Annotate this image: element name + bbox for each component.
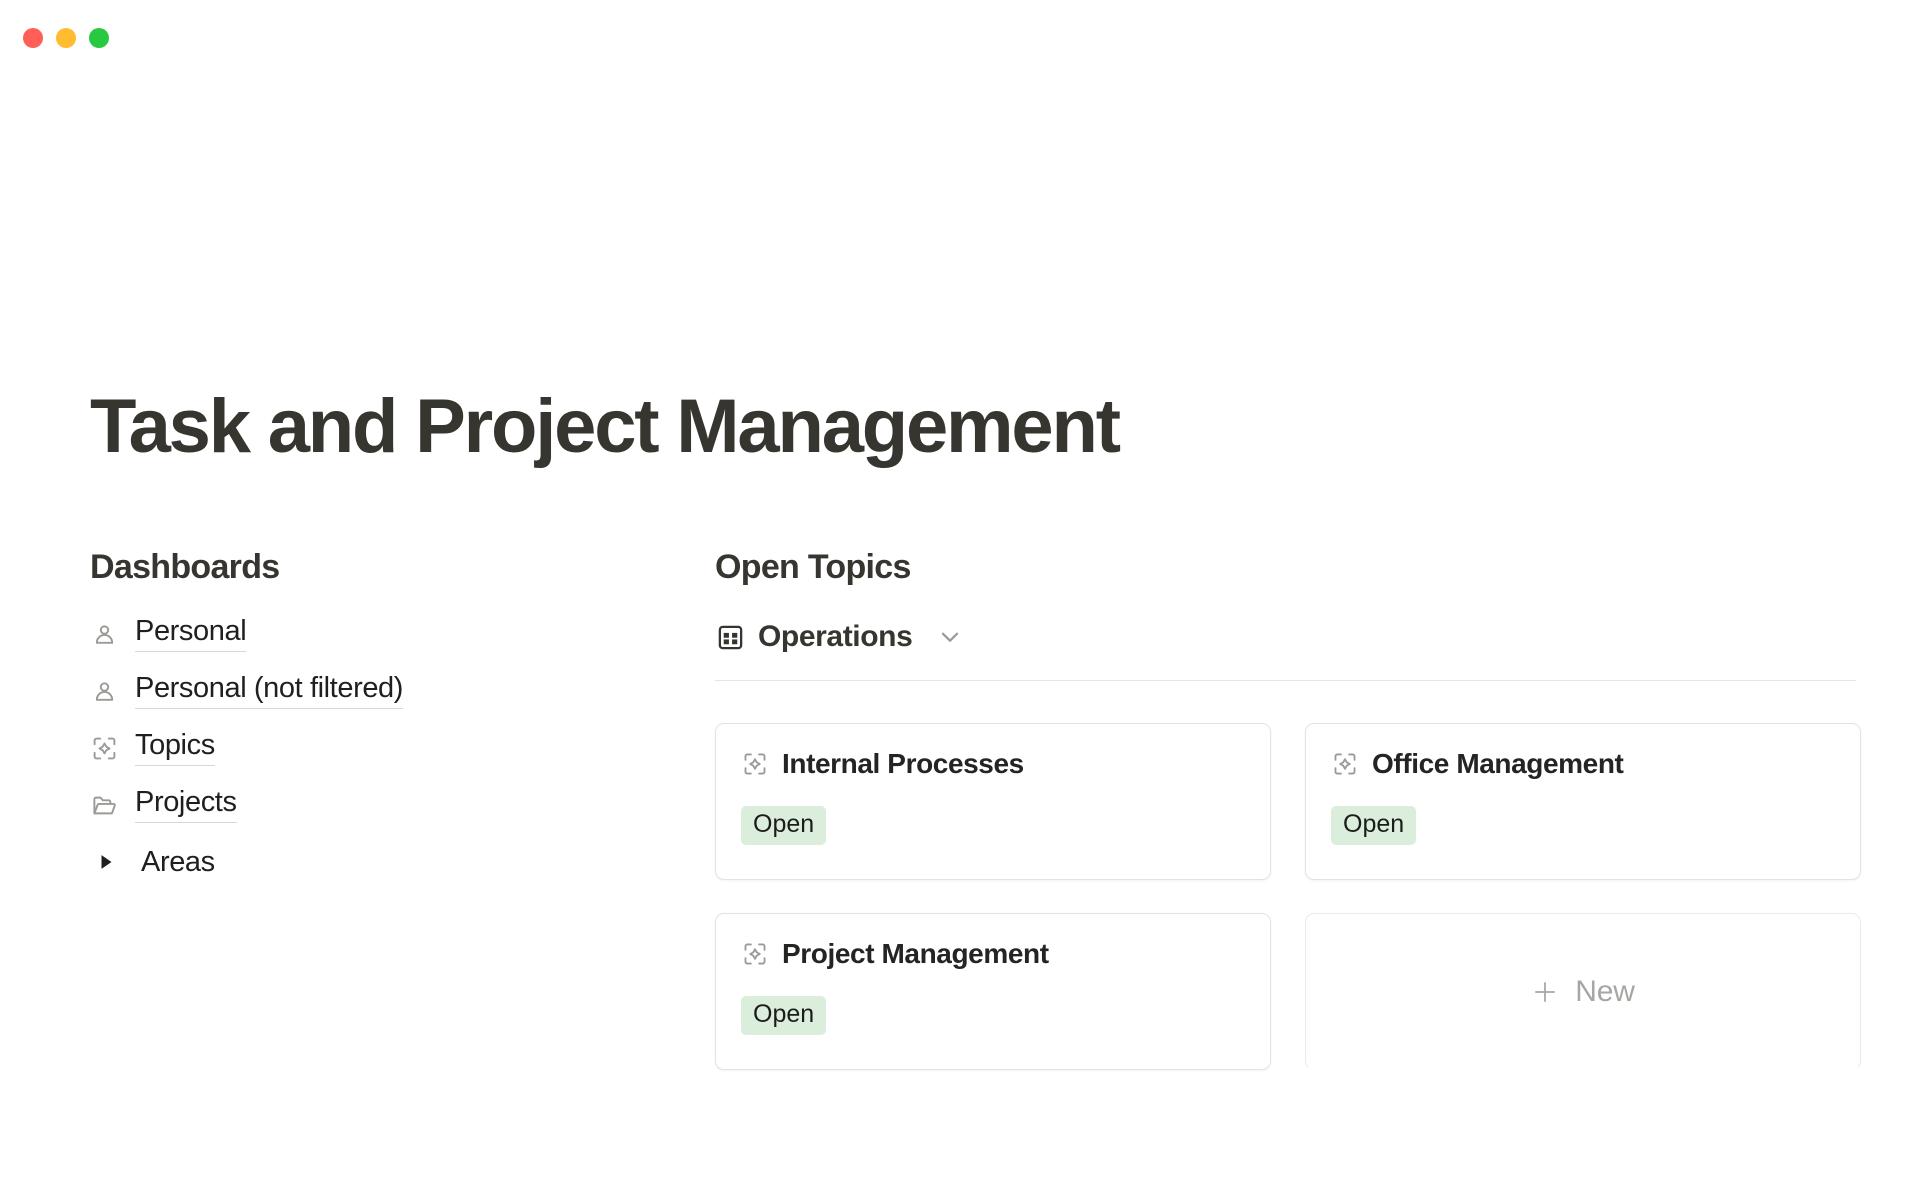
- page-title: Task and Project Management: [90, 389, 1119, 465]
- status-badge: Open: [1331, 806, 1416, 845]
- sidebar-item-label: Topics: [135, 731, 215, 766]
- topic-card[interactable]: Internal Processes Open: [715, 723, 1271, 880]
- card-title: Project Management: [782, 940, 1049, 968]
- new-topic-card[interactable]: New: [1305, 913, 1861, 1070]
- card-title: Internal Processes: [782, 750, 1024, 778]
- sidebar-item-label: Personal: [135, 617, 246, 652]
- topic-focus-icon: [741, 751, 768, 778]
- status-badge: Open: [741, 996, 826, 1035]
- topic-focus-icon: [1331, 751, 1358, 778]
- open-topics-column: Open Topics Operations: [715, 548, 1860, 1070]
- page-content: Task and Project Management Dashboards P…: [0, 0, 1920, 1200]
- dashboards-heading: Dashboards: [90, 548, 630, 587]
- topic-card[interactable]: Project Management Open: [715, 913, 1271, 1070]
- sidebar-item-personal[interactable]: Personal: [90, 615, 630, 653]
- person-icon: [90, 620, 118, 648]
- database-name: Operations: [758, 622, 912, 652]
- person-icon: [90, 677, 118, 705]
- card-title: Office Management: [1372, 750, 1623, 778]
- sidebar-item-projects[interactable]: Projects: [90, 786, 630, 824]
- plus-icon: [1531, 978, 1559, 1006]
- new-card-inner: New: [1531, 977, 1634, 1007]
- topic-focus-icon: [741, 941, 768, 968]
- sidebar-item-label: Personal (not filtered): [135, 674, 403, 709]
- dashboards-list: Personal Personal (not filtered): [90, 615, 630, 881]
- open-folder-icon: [90, 791, 118, 819]
- section-divider: [715, 680, 1856, 681]
- card-title-row: Internal Processes: [741, 750, 1245, 778]
- topics-card-grid: Internal Processes Open: [715, 723, 1860, 1070]
- topic-card[interactable]: Office Management Open: [1305, 723, 1861, 880]
- table-grid-icon: [715, 622, 745, 652]
- status-badge: Open: [741, 806, 826, 845]
- open-topics-heading: Open Topics: [715, 548, 1860, 587]
- triangle-right-icon[interactable]: [94, 848, 118, 876]
- dashboards-column: Dashboards Personal: [90, 548, 630, 881]
- new-card-label: New: [1575, 977, 1634, 1007]
- sidebar-item-label: Areas: [141, 848, 215, 877]
- card-title-row: Project Management: [741, 940, 1245, 968]
- database-header[interactable]: Operations: [715, 615, 964, 659]
- sidebar-item-topics[interactable]: Topics: [90, 729, 630, 767]
- topic-focus-icon: [90, 734, 118, 762]
- sidebar-item-personal-not-filtered[interactable]: Personal (not filtered): [90, 672, 630, 710]
- chevron-down-icon[interactable]: [936, 623, 964, 651]
- sidebar-item-label: Projects: [135, 788, 237, 823]
- sidebar-item-areas[interactable]: Areas: [90, 843, 630, 881]
- card-title-row: Office Management: [1331, 750, 1835, 778]
